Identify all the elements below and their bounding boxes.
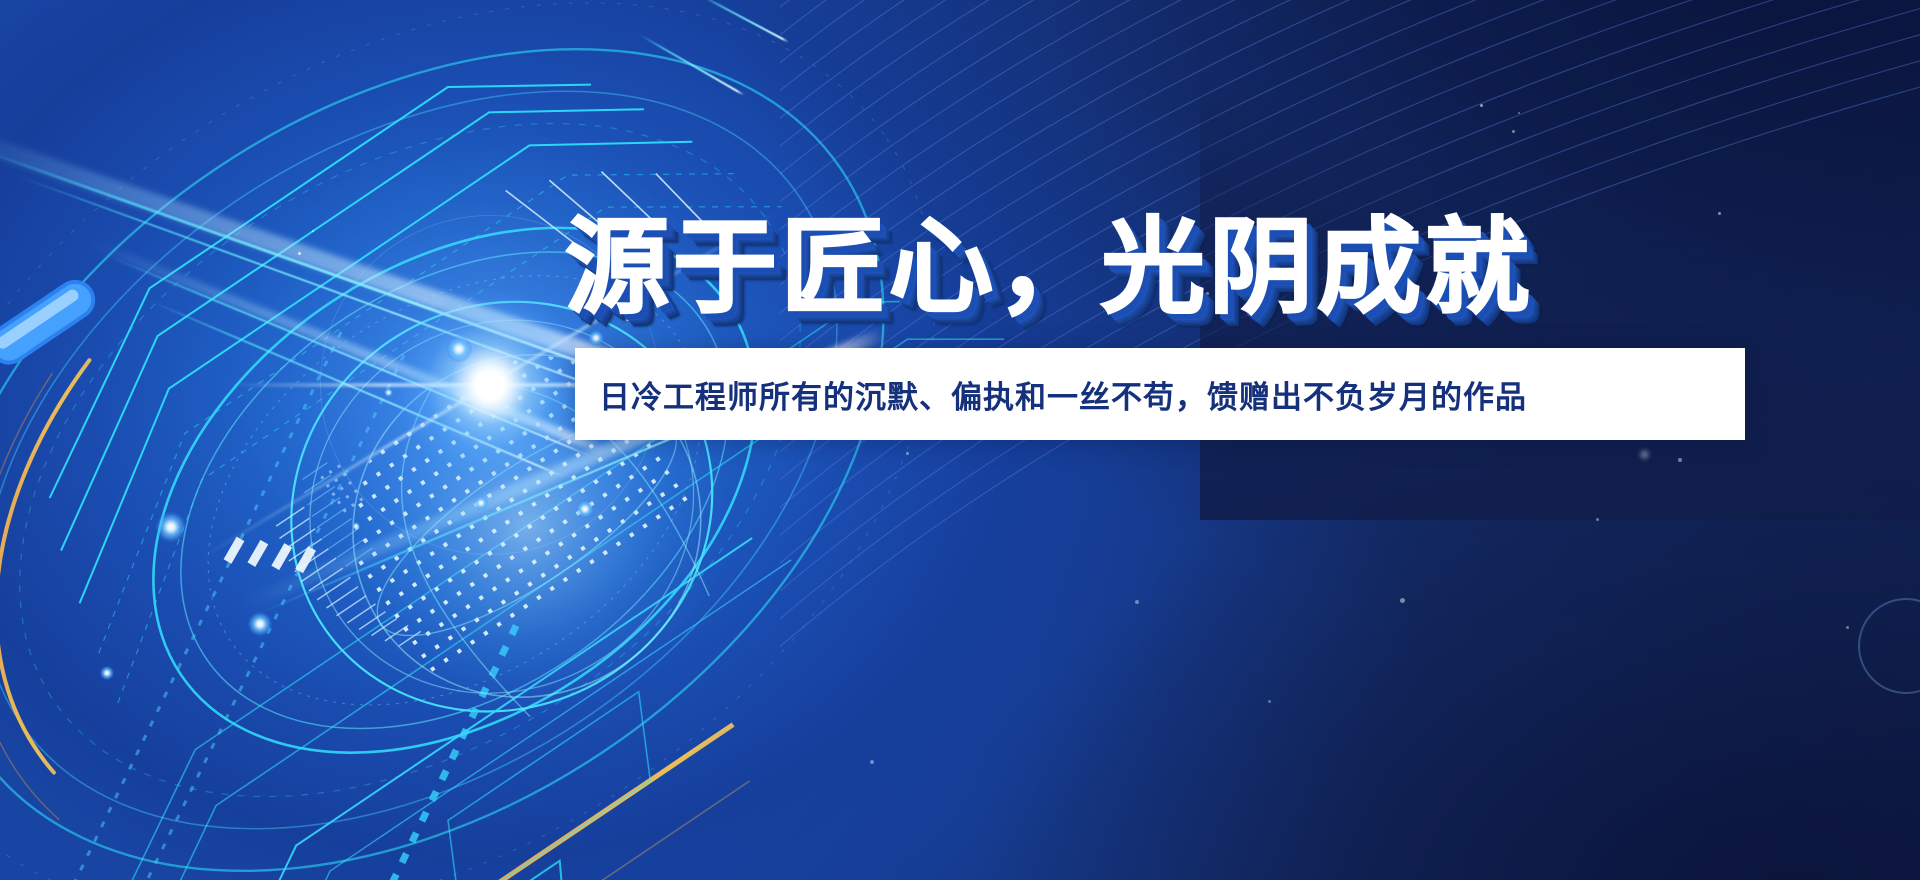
page-title: 源于匠心，光阴成就	[565, 214, 1533, 320]
headline-right: 光阴成就	[1101, 206, 1533, 328]
headline-left: 源于匠心	[565, 206, 997, 328]
subtitle-bar: 日冷工程师所有的沉默、偏执和一丝不苟，馈赠出不负岁月的作品	[575, 348, 1745, 440]
subtitle-text: 日冷工程师所有的沉默、偏执和一丝不苟，馈赠出不负岁月的作品	[575, 372, 1527, 417]
tech-hud-circle-graphic	[0, 0, 950, 880]
headline-comma: ，	[997, 206, 1101, 328]
hero-banner: 源于匠心，光阴成就 日冷工程师所有的沉默、偏执和一丝不苟，馈赠出不负岁月的作品	[0, 0, 1920, 880]
